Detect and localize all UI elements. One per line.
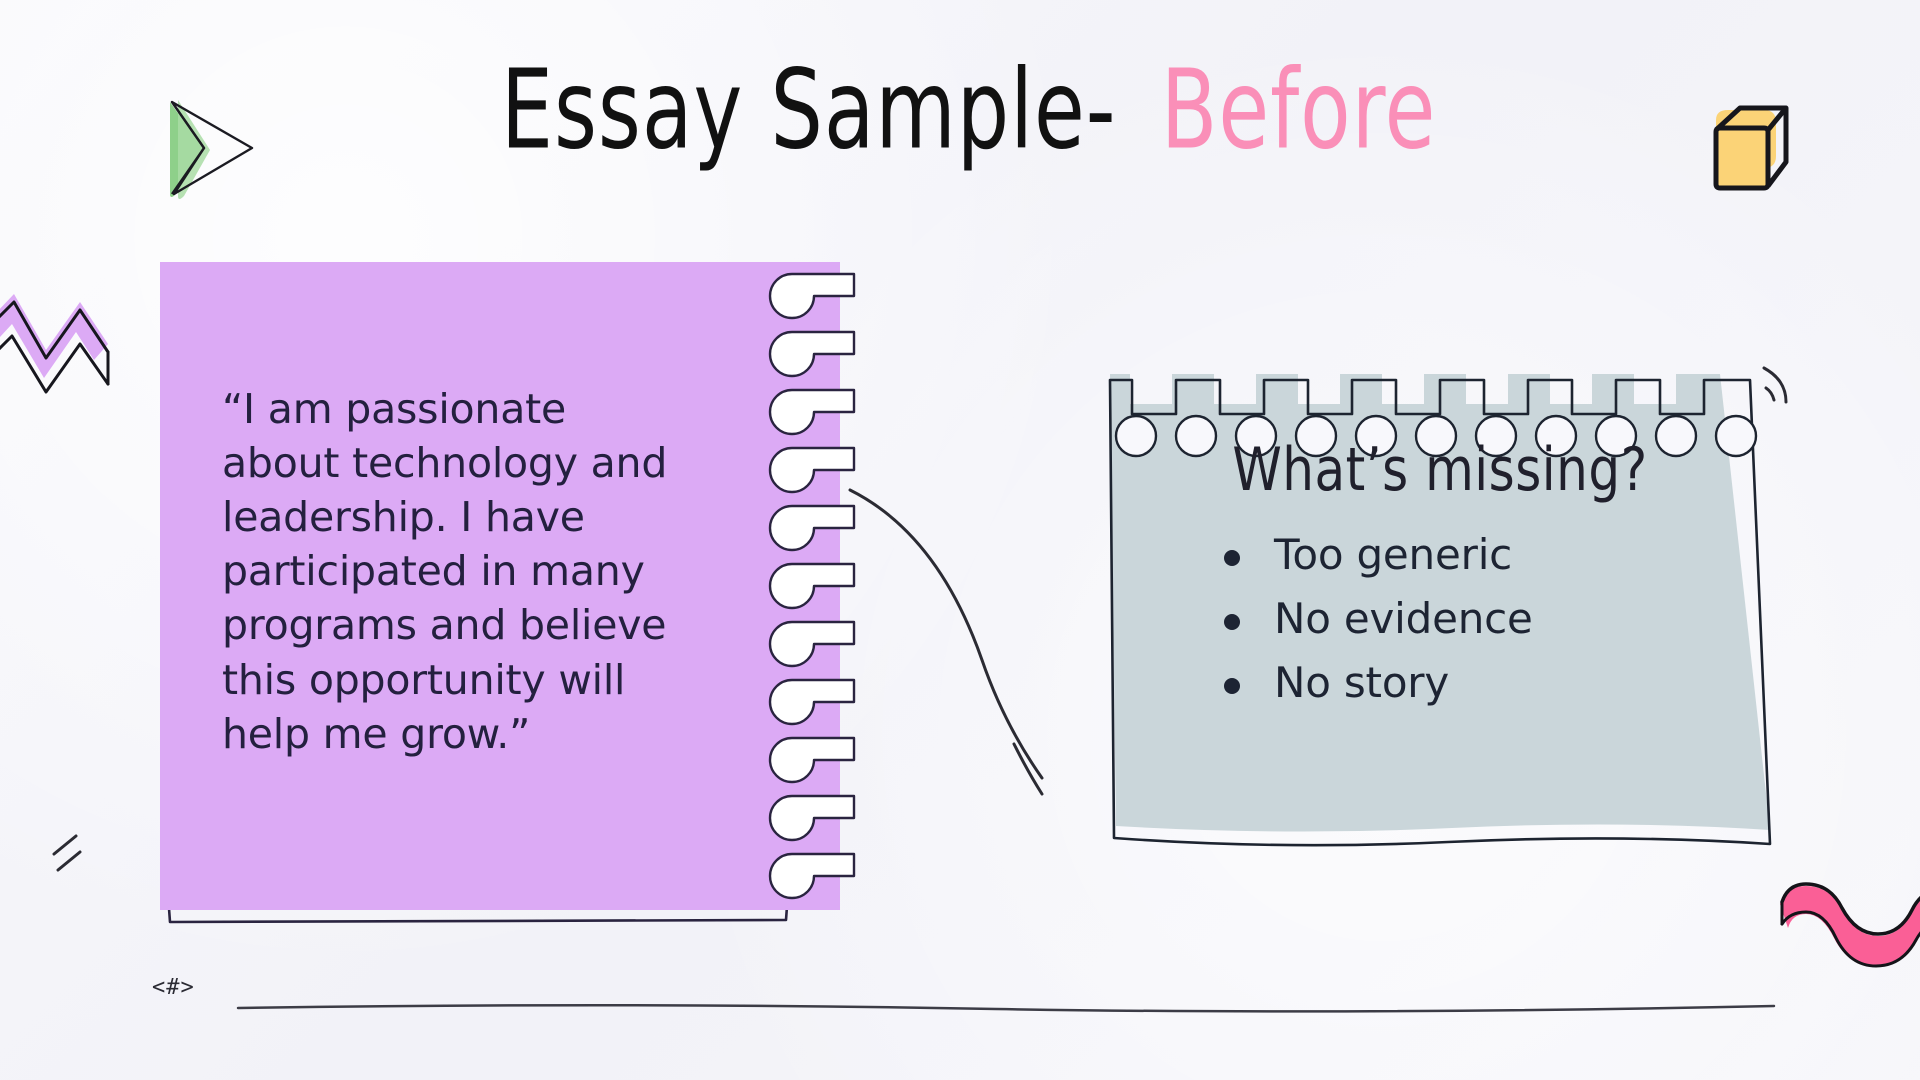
- yellow-cube-icon: [1690, 98, 1800, 208]
- slash-accent-marks-icon: [46, 818, 116, 888]
- page-number-placeholder: <#>: [152, 975, 195, 1000]
- list-item-label: No evidence: [1274, 594, 1533, 643]
- connector-curve: [846, 472, 1086, 802]
- list-item: No story: [1218, 656, 1533, 710]
- purple-quote-card: “I am passionate about technology and le…: [160, 262, 840, 922]
- pink-wave-icon: [1772, 868, 1920, 988]
- gray-notepad-card: What’s missing? Too generic No evidence …: [1100, 380, 1780, 840]
- footer-rule: [236, 1000, 1776, 1016]
- list-item-label: No story: [1274, 658, 1449, 707]
- bullet-dot-icon: [1224, 614, 1240, 630]
- slide-title: Essay Sample-Before: [400, 78, 1530, 168]
- gray-card-heading: What’s missing?: [1100, 435, 1780, 505]
- gray-card-bullet-list: Too generic No evidence No story: [1218, 528, 1533, 719]
- list-item: Too generic: [1218, 528, 1533, 582]
- green-arrow-icon: [148, 88, 268, 208]
- purple-card-spiral-holes: [772, 260, 882, 930]
- title-accent-text: Before: [1161, 53, 1437, 169]
- purple-card-quote-text: “I am passionate about technology and le…: [222, 382, 742, 761]
- list-item-label: Too generic: [1274, 530, 1512, 579]
- slide-canvas: Essay Sample-Before “I am p: [0, 0, 1920, 1080]
- bullet-dot-icon: [1224, 550, 1240, 566]
- bullet-dot-icon: [1224, 678, 1240, 694]
- purple-zigzag-icon: [0, 298, 124, 428]
- list-item: No evidence: [1218, 592, 1533, 646]
- title-main-text: Essay Sample-: [501, 53, 1117, 169]
